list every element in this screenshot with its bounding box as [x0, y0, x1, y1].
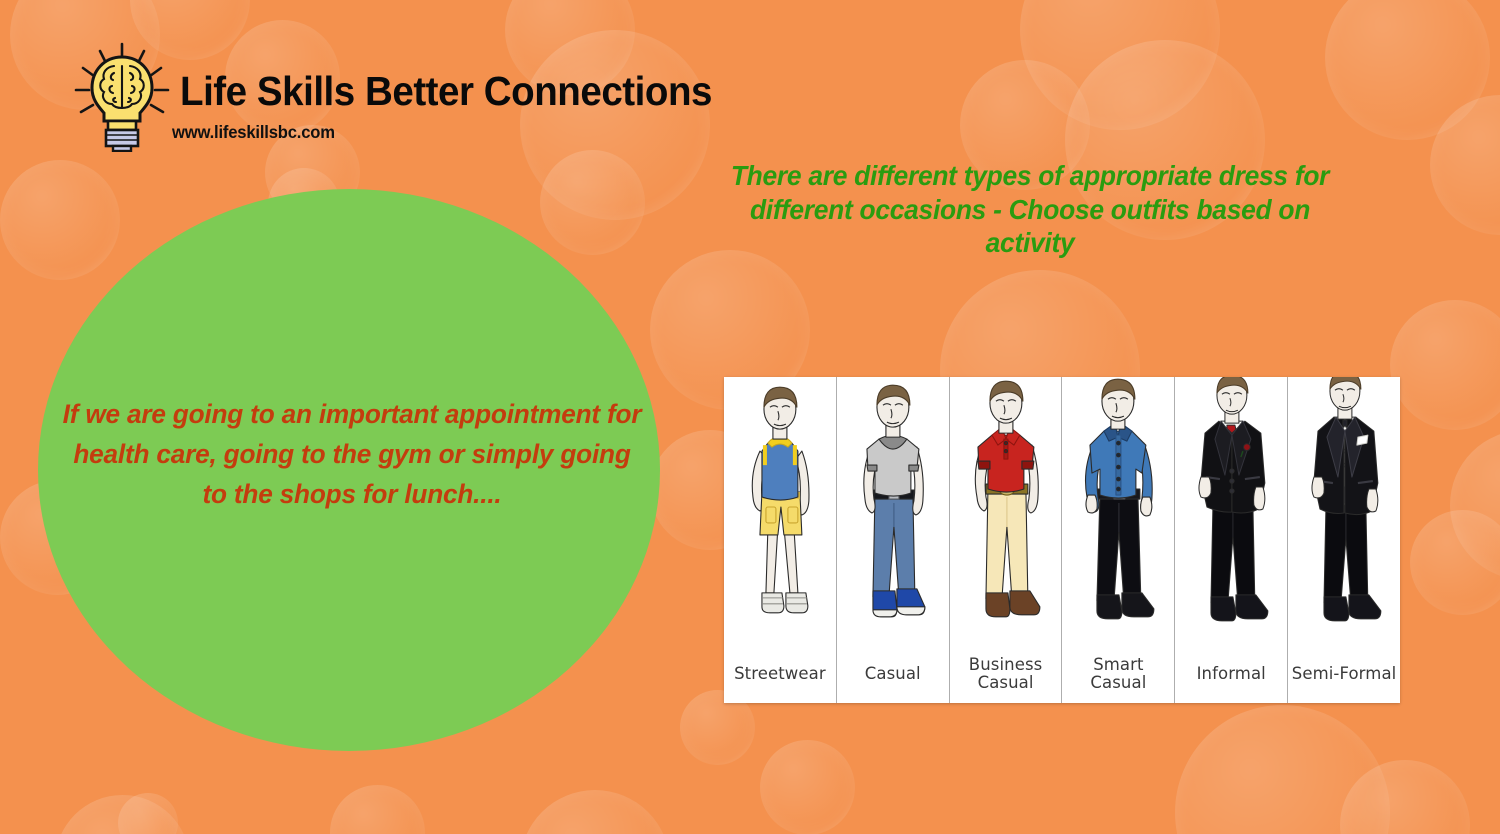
bubble-23	[520, 790, 670, 834]
figure-business-casual	[950, 377, 1062, 645]
figure-informal	[1175, 377, 1287, 645]
bubble-8	[1020, 0, 1220, 130]
lightbulb-brain-icon	[68, 42, 176, 152]
bubble-25	[1175, 705, 1390, 834]
logo-block: Life Skills Better Connections www.lifes…	[68, 42, 728, 160]
slide-canvas: Life Skills Better Connections www.lifes…	[0, 0, 1500, 834]
bubble-21	[55, 795, 190, 834]
bubble-12	[1430, 95, 1500, 235]
dress-label: Smart Casual	[1062, 645, 1174, 703]
figure-semi-formal	[1288, 377, 1400, 645]
bubble-27	[760, 740, 855, 834]
brand-title: Life Skills Better Connections	[180, 68, 712, 115]
dress-column-business-casual[interactable]: Business Casual	[950, 377, 1063, 703]
figure-casual	[837, 377, 949, 645]
dress-label: Semi-Formal	[1288, 645, 1400, 703]
figure-smart-casual	[1062, 377, 1174, 645]
bubble-18	[1410, 510, 1500, 615]
bubble-5	[0, 160, 120, 280]
bubble-14	[540, 150, 645, 255]
figure-streetwear	[724, 377, 836, 645]
dress-label: Informal	[1175, 645, 1287, 703]
dress-column-streetwear[interactable]: Streetwear	[724, 377, 837, 703]
bubble-26	[1340, 760, 1470, 834]
bubble-11	[1325, 0, 1490, 140]
bubble-16	[1390, 300, 1500, 430]
dress-column-semi-formal[interactable]: Semi-Formal	[1288, 377, 1400, 703]
dress-label: Business Casual	[950, 645, 1062, 703]
dress-column-informal[interactable]: Informal	[1175, 377, 1288, 703]
headline-text: There are different types of appropriate…	[719, 159, 1341, 260]
brand-url: www.lifeskillsbc.com	[172, 122, 335, 143]
dress-column-smart-casual[interactable]: Smart Casual	[1062, 377, 1175, 703]
dress-label: Casual	[837, 645, 949, 703]
dress-label: Streetwear	[724, 645, 836, 703]
bubble-24	[118, 793, 178, 834]
circle-body-text: If we are going to an important appointm…	[61, 395, 643, 515]
dress-column-casual[interactable]: Casual	[837, 377, 950, 703]
bubble-22	[330, 785, 425, 834]
bubble-17	[1450, 430, 1500, 580]
dress-code-chart: Streetwear	[724, 377, 1400, 703]
